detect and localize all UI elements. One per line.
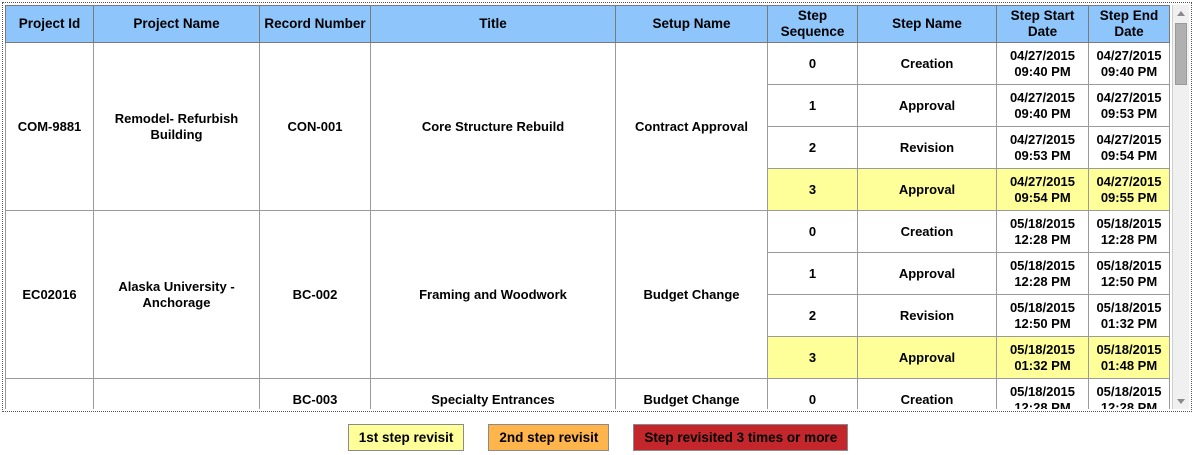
column-header-project-name[interactable]: Project Name <box>94 6 260 43</box>
cell-step-sequence: 0 <box>768 379 858 410</box>
cell-step-name: Creation <box>858 211 997 253</box>
column-header-title[interactable]: Title <box>371 6 616 43</box>
cell-step-end-date-time: 12:28 PM <box>1092 400 1166 410</box>
cell-step-end-date-time: 09:40 PM <box>1092 64 1166 79</box>
legend-item: Step revisited 3 times or more <box>633 424 848 451</box>
header-row: Project Id Project Name Record Number Ti… <box>6 6 1170 43</box>
cell-step-start-date-date: 04/27/2015 <box>1000 90 1085 105</box>
cell-step-end-date-date: 05/18/2015 <box>1092 384 1166 399</box>
legend-item: 2nd step revisit <box>488 424 609 451</box>
cell-step-end-date: 05/18/201512:28 PM <box>1089 211 1170 253</box>
cell-step-name: Creation <box>858 43 997 85</box>
cell-step-sequence: 1 <box>768 253 858 295</box>
cell-step-end-date-date: 04/27/2015 <box>1092 90 1166 105</box>
legend: 1st step revisit2nd step revisitStep rev… <box>0 424 1196 451</box>
cell-step-start-date-time: 12:28 PM <box>1000 274 1085 289</box>
cell-step-end-date-date: 05/18/2015 <box>1092 300 1166 315</box>
cell-step-start-date: 05/18/201512:28 PM <box>997 253 1089 295</box>
cell-setup-name: Contract Approval <box>616 43 768 211</box>
cell-setup-name: Budget Change <box>616 379 768 410</box>
cell-step-sequence: 2 <box>768 127 858 169</box>
scrollbar-thumb[interactable] <box>1175 23 1187 85</box>
legend-item: 1st step revisit <box>348 424 465 451</box>
table-row: COM-9881Remodel- Refurbish BuildingCON-0… <box>6 43 1170 85</box>
cell-step-end-date-date: 05/18/2015 <box>1092 342 1166 357</box>
cell-step-start-date-date: 05/18/2015 <box>1000 216 1085 231</box>
cell-step-start-date: 04/27/201509:40 PM <box>997 85 1089 127</box>
cell-step-end-date: 04/27/201509:40 PM <box>1089 43 1170 85</box>
cell-step-start-date-date: 05/18/2015 <box>1000 342 1085 357</box>
column-header-setup-name[interactable]: Setup Name <box>616 6 768 43</box>
cell-step-end-date-time: 09:54 PM <box>1092 148 1166 163</box>
cell-step-start-date: 05/18/201512:28 PM <box>997 211 1089 253</box>
cell-step-end-date-time: 01:32 PM <box>1092 316 1166 331</box>
cell-project-name: Remodel- Refurbish Building <box>94 43 260 211</box>
column-header-step-start-date[interactable]: Step Start Date <box>997 6 1089 43</box>
cell-step-name: Revision <box>858 295 997 337</box>
cell-project-id <box>6 379 94 410</box>
cell-setup-name: Budget Change <box>616 211 768 379</box>
cell-step-start-date-date: 04/27/2015 <box>1000 132 1085 147</box>
cell-step-start-date-time: 12:28 PM <box>1000 232 1085 247</box>
cell-step-start-date-date: 05/18/2015 <box>1000 300 1085 315</box>
cell-record-number[interactable]: BC-002 <box>260 211 371 379</box>
column-header-step-end-date[interactable]: Step End Date <box>1089 6 1170 43</box>
cell-step-end-date: 05/18/201501:48 PM <box>1089 337 1170 379</box>
cell-step-sequence: 3 <box>768 337 858 379</box>
cell-step-name: Approval <box>858 253 997 295</box>
cell-step-start-date-time: 01:32 PM <box>1000 358 1085 373</box>
cell-step-end-date: 04/27/201509:55 PM <box>1089 169 1170 211</box>
cell-step-start-date-date: 04/27/2015 <box>1000 48 1085 63</box>
cell-step-start-date-time: 09:53 PM <box>1000 148 1085 163</box>
cell-project-id: EC02016 <box>6 211 94 379</box>
cell-step-name: Creation <box>858 379 997 410</box>
cell-step-end-date-time: 12:28 PM <box>1092 232 1166 247</box>
cell-step-end-date: 05/18/201512:50 PM <box>1089 253 1170 295</box>
cell-step-name: Revision <box>858 127 997 169</box>
cell-step-start-date: 05/18/201512:50 PM <box>997 295 1089 337</box>
cell-step-start-date-time: 09:40 PM <box>1000 64 1085 79</box>
cell-step-end-date: 05/18/201501:32 PM <box>1089 295 1170 337</box>
cell-step-start-date: 04/27/201509:40 PM <box>997 43 1089 85</box>
cell-title[interactable]: Core Structure Rebuild <box>371 43 616 211</box>
cell-step-name: Approval <box>858 169 997 211</box>
cell-step-end-date: 04/27/201509:53 PM <box>1089 85 1170 127</box>
cell-project-name <box>94 379 260 410</box>
cell-step-end-date-date: 04/27/2015 <box>1092 132 1166 147</box>
cell-step-name: Approval <box>858 85 997 127</box>
cell-step-sequence: 3 <box>768 169 858 211</box>
cell-step-start-date-time: 09:40 PM <box>1000 106 1085 121</box>
vertical-scrollbar[interactable] <box>1172 5 1189 409</box>
cell-title[interactable]: Framing and Woodwork <box>371 211 616 379</box>
cell-step-end-date-date: 04/27/2015 <box>1092 48 1166 63</box>
table-header: Project Id Project Name Record Number Ti… <box>6 6 1170 43</box>
cell-step-start-date-date: 05/18/2015 <box>1000 384 1085 399</box>
column-header-project-id[interactable]: Project Id <box>6 6 94 43</box>
cell-project-name: Alaska University - Anchorage <box>94 211 260 379</box>
table-row: BC-003Specialty EntrancesBudget Change0C… <box>6 379 1170 410</box>
cell-step-end-date-date: 05/18/2015 <box>1092 216 1166 231</box>
report-scroll-frame: Project Id Project Name Record Number Ti… <box>2 2 1192 412</box>
column-header-step-sequence[interactable]: Step Sequence <box>768 6 858 43</box>
cell-step-sequence: 0 <box>768 43 858 85</box>
cell-step-end-date-time: 09:53 PM <box>1092 106 1166 121</box>
workflow-step-report: Project Id Project Name Record Number Ti… <box>0 0 1196 455</box>
table-viewport: Project Id Project Name Record Number Ti… <box>5 5 1172 409</box>
cell-step-sequence: 2 <box>768 295 858 337</box>
column-header-step-name[interactable]: Step Name <box>858 6 997 43</box>
cell-title[interactable]: Specialty Entrances <box>371 379 616 410</box>
cell-step-name: Approval <box>858 337 997 379</box>
workflow-steps-table: Project Id Project Name Record Number Ti… <box>5 5 1170 409</box>
cell-step-start-date-time: 12:28 PM <box>1000 400 1085 410</box>
cell-record-number[interactable]: BC-003 <box>260 379 371 410</box>
cell-step-end-date: 05/18/201512:28 PM <box>1089 379 1170 410</box>
cell-step-end-date-time: 09:55 PM <box>1092 190 1166 205</box>
table-body: COM-9881Remodel- Refurbish BuildingCON-0… <box>6 43 1170 410</box>
cell-step-start-date-date: 05/18/2015 <box>1000 258 1085 273</box>
scroll-down-arrow-icon[interactable] <box>1173 393 1189 409</box>
column-header-record-number[interactable]: Record Number <box>260 6 371 43</box>
cell-record-number[interactable]: CON-001 <box>260 43 371 211</box>
cell-step-end-date-date: 05/18/2015 <box>1092 258 1166 273</box>
cell-step-end-date-time: 12:50 PM <box>1092 274 1166 289</box>
cell-step-end-date-date: 04/27/2015 <box>1092 174 1166 189</box>
cell-step-sequence: 0 <box>768 211 858 253</box>
cell-step-end-date-time: 01:48 PM <box>1092 358 1166 373</box>
scroll-up-arrow-icon[interactable] <box>1173 5 1189 21</box>
cell-step-start-date-date: 04/27/2015 <box>1000 174 1085 189</box>
cell-step-end-date: 04/27/201509:54 PM <box>1089 127 1170 169</box>
cell-project-id: COM-9881 <box>6 43 94 211</box>
cell-step-start-date: 04/27/201509:54 PM <box>997 169 1089 211</box>
table-row: EC02016Alaska University - AnchorageBC-0… <box>6 211 1170 253</box>
cell-step-start-date: 05/18/201512:28 PM <box>997 379 1089 410</box>
cell-step-start-date-time: 09:54 PM <box>1000 190 1085 205</box>
cell-step-sequence: 1 <box>768 85 858 127</box>
cell-step-start-date-time: 12:50 PM <box>1000 316 1085 331</box>
cell-step-start-date: 04/27/201509:53 PM <box>997 127 1089 169</box>
cell-step-start-date: 05/18/201501:32 PM <box>997 337 1089 379</box>
